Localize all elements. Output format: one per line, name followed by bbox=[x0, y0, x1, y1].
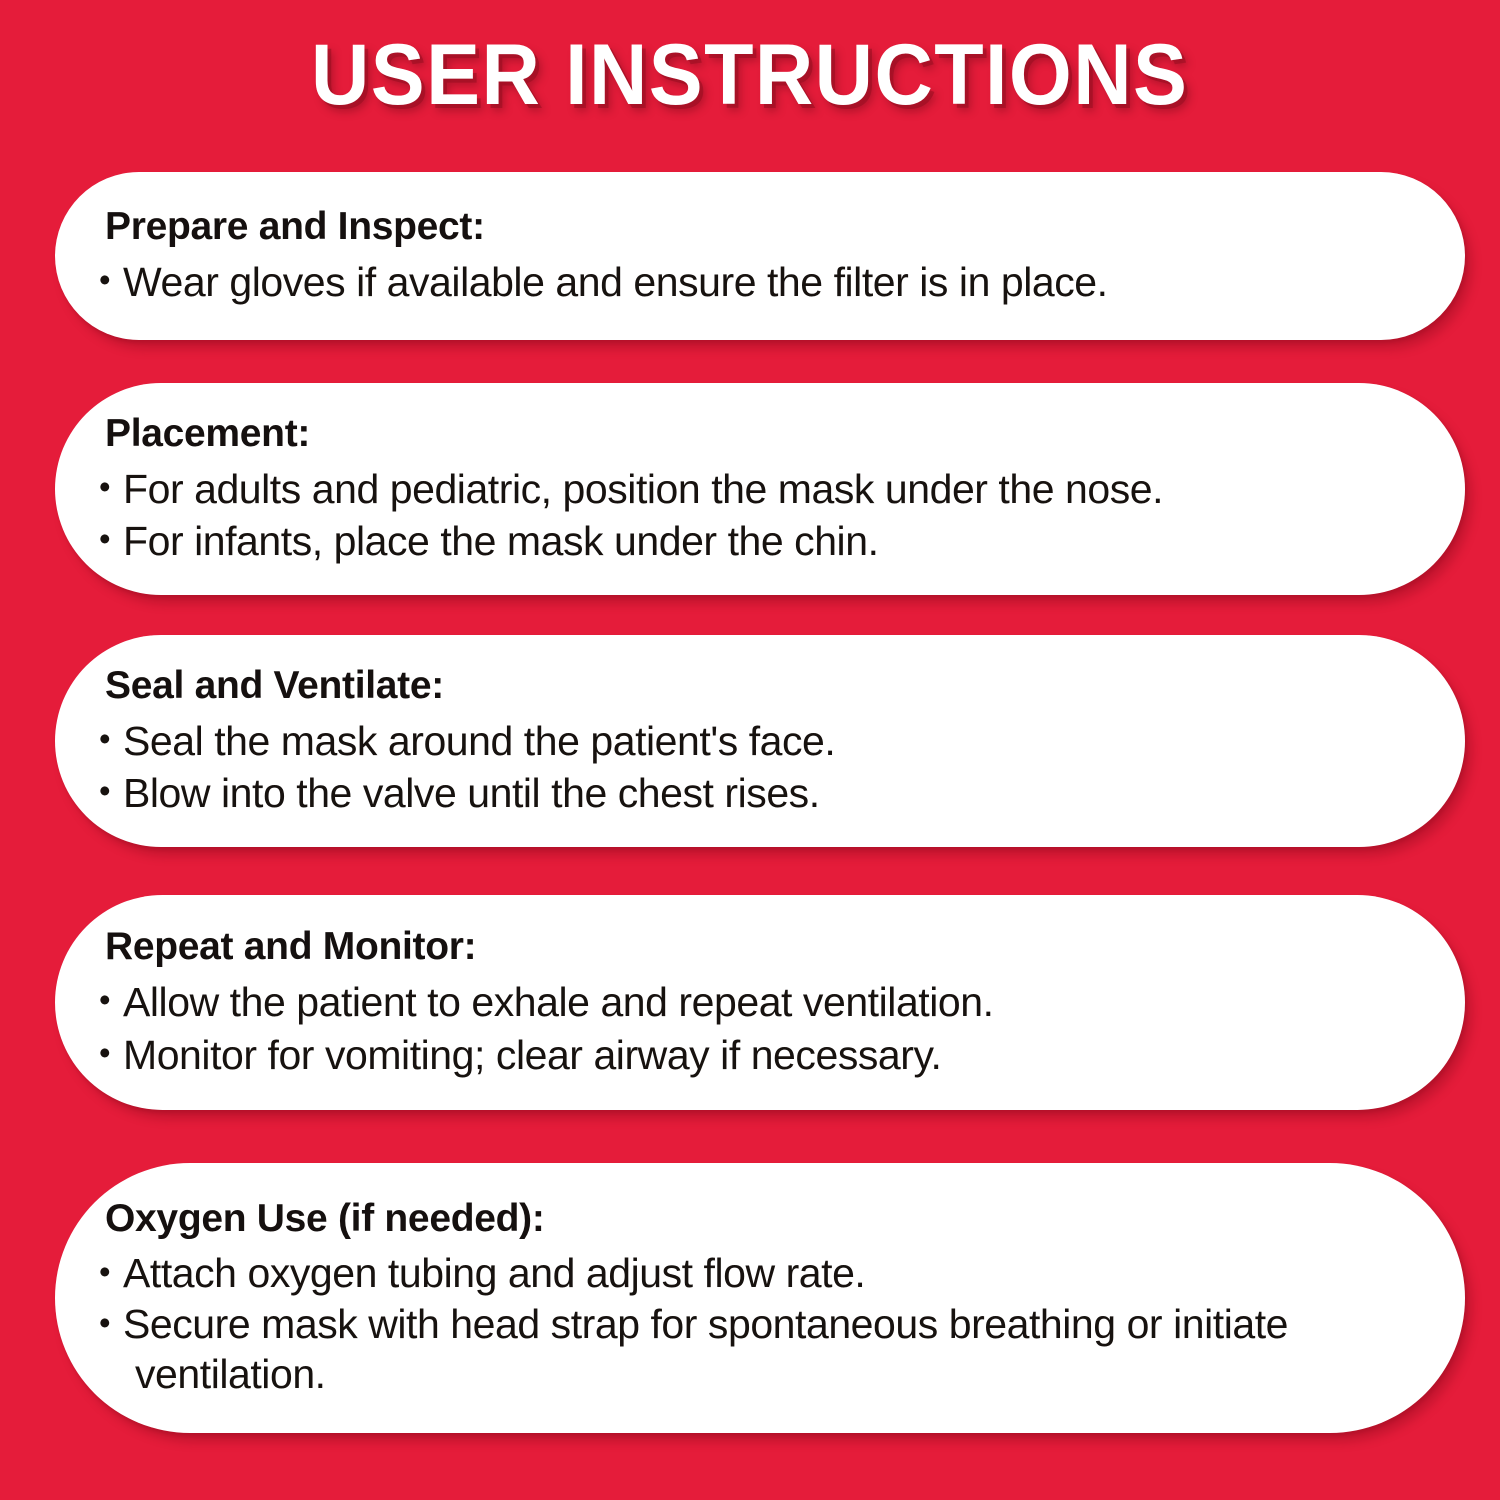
card-bullet-list: Attach oxygen tubing and adjust flow rat… bbox=[105, 1248, 1395, 1400]
bullet-item: Attach oxygen tubing and adjust flow rat… bbox=[105, 1248, 1395, 1299]
instruction-card-oxygen-use: Oxygen Use (if needed): Attach oxygen tu… bbox=[55, 1163, 1465, 1433]
card-heading: Placement: bbox=[105, 411, 1395, 457]
bullet-item: Wear gloves if available and ensure the … bbox=[105, 256, 1395, 308]
card-content: Repeat and Monitor: Allow the patient to… bbox=[105, 924, 1395, 1080]
instruction-card-repeat-and-monitor: Repeat and Monitor: Allow the patient to… bbox=[55, 895, 1465, 1110]
card-heading: Prepare and Inspect: bbox=[105, 204, 1395, 250]
instruction-card-seal-and-ventilate: Seal and Ventilate: Seal the mask around… bbox=[55, 635, 1465, 847]
bullet-item: Blow into the valve until the chest rise… bbox=[105, 767, 1395, 819]
card-content: Seal and Ventilate: Seal the mask around… bbox=[105, 663, 1395, 819]
bullet-item: Monitor for vomiting; clear airway if ne… bbox=[105, 1029, 1395, 1081]
card-bullet-list: Seal the mask around the patient's face.… bbox=[105, 715, 1395, 819]
card-bullet-list: Wear gloves if available and ensure the … bbox=[105, 256, 1395, 308]
instruction-card-list: Prepare and Inspect: Wear gloves if avai… bbox=[0, 150, 1500, 1500]
page-title: USER INSTRUCTIONS bbox=[311, 32, 1188, 118]
bullet-item: Secure mask with head strap for spontane… bbox=[105, 1299, 1395, 1401]
card-heading: Repeat and Monitor: bbox=[105, 924, 1395, 970]
card-bullet-list: For adults and pediatric, position the m… bbox=[105, 463, 1395, 567]
instruction-card-prepare-and-inspect: Prepare and Inspect: Wear gloves if avai… bbox=[55, 172, 1465, 340]
card-bullet-list: Allow the patient to exhale and repeat v… bbox=[105, 976, 1395, 1080]
card-heading: Oxygen Use (if needed): bbox=[105, 1196, 1395, 1242]
instruction-card-placement: Placement: For adults and pediatric, pos… bbox=[55, 383, 1465, 595]
card-heading: Seal and Ventilate: bbox=[105, 663, 1395, 709]
bullet-item: For adults and pediatric, position the m… bbox=[105, 463, 1395, 515]
bullet-item: For infants, place the mask under the ch… bbox=[105, 515, 1395, 567]
card-content: Prepare and Inspect: Wear gloves if avai… bbox=[105, 204, 1395, 308]
bullet-item: Seal the mask around the patient's face. bbox=[105, 715, 1395, 767]
card-content: Placement: For adults and pediatric, pos… bbox=[105, 411, 1395, 567]
bullet-item: Allow the patient to exhale and repeat v… bbox=[105, 976, 1395, 1028]
page-header: USER INSTRUCTIONS bbox=[0, 0, 1500, 150]
card-content: Oxygen Use (if needed): Attach oxygen tu… bbox=[105, 1196, 1395, 1401]
